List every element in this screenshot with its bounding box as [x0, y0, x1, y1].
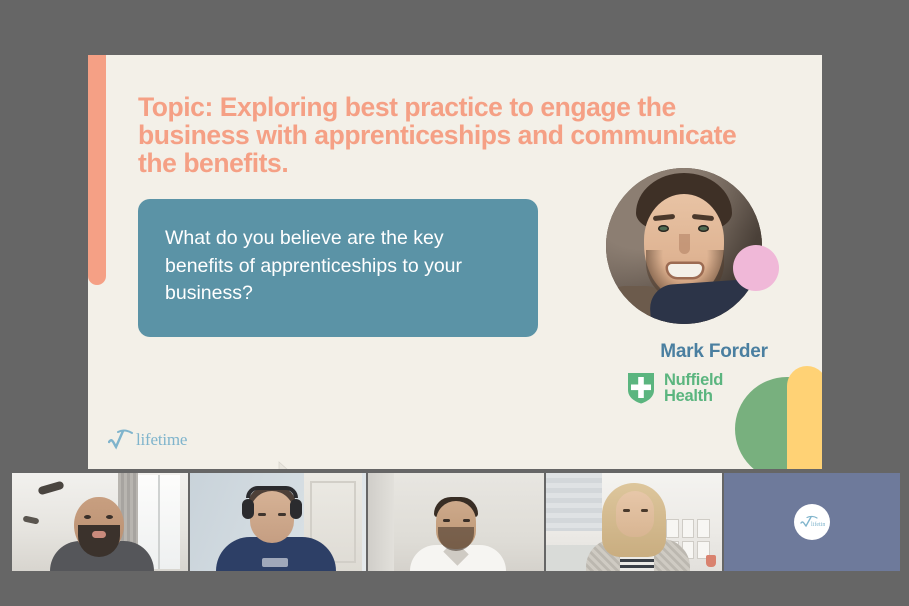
meeting-screen-share-view: Topic: Exploring best practice to engage… — [0, 0, 909, 606]
tile-2-shirt-logo — [262, 558, 288, 567]
tile-4-person-eye-right — [641, 509, 648, 512]
tile-2-headset-cup-right — [290, 499, 302, 519]
participant-tile-1[interactable] — [12, 473, 188, 571]
tile-1-person-eye-left — [84, 515, 91, 519]
pink-circle-decoration — [733, 245, 779, 291]
slide-title: Topic: Exploring best practice to engage… — [138, 93, 758, 177]
photo-eye-left — [658, 225, 669, 232]
question-text: What do you believe are the key benefits… — [165, 225, 513, 308]
nuffield-health-logo: Nuffield Health — [626, 368, 751, 408]
avatar: lifetime — [794, 504, 830, 540]
shield-cross-icon — [626, 371, 656, 405]
lifetime-swoosh-icon — [108, 429, 134, 451]
yellow-rounded-rect-decoration — [787, 366, 822, 469]
lifetime-wordmark: lifetime — [136, 430, 187, 450]
tile-2-headset-band — [246, 486, 298, 498]
participant-filmstrip[interactable]: lifetime — [12, 473, 898, 571]
participant-tile-3[interactable] — [368, 473, 544, 571]
nuffield-wordmark: Nuffield Health — [664, 372, 723, 405]
speaker-headshot — [606, 168, 762, 324]
photo-smile — [668, 264, 702, 277]
speaker-name: Mark Forder — [614, 341, 814, 363]
tile-4-window-blind — [546, 473, 602, 531]
tile-4-mug — [706, 555, 716, 567]
nuffield-line-1: Nuffield — [664, 372, 723, 389]
photo-nose — [679, 234, 690, 254]
tile-2-person-eye-right — [278, 513, 286, 516]
tile-3-person-eye-left — [443, 519, 450, 522]
tile-2-person-eye-left — [258, 513, 266, 516]
question-callout-box: What do you believe are the key benefits… — [138, 199, 538, 337]
lifetime-swoosh-icon: lifetime — [799, 515, 825, 529]
tile-3-wall-edge — [368, 473, 394, 571]
tile-4-person-head — [616, 491, 654, 537]
tile-2-person-head — [250, 491, 294, 543]
lifetime-logo: lifetime — [108, 427, 218, 453]
tile-4-person-eye-left — [623, 509, 630, 512]
participant-tile-2[interactable] — [190, 473, 366, 571]
participant-tile-4[interactable] — [546, 473, 722, 571]
shared-slide[interactable]: Topic: Exploring best practice to engage… — [88, 55, 822, 469]
photo-eye-right — [698, 225, 709, 232]
participant-tile-5[interactable]: lifetime — [724, 473, 900, 571]
accent-bar — [88, 55, 106, 285]
tile-1-person-eye-right — [106, 515, 113, 519]
tile-2-headset-cup-left — [242, 499, 254, 519]
nuffield-line-2: Health — [664, 388, 723, 405]
mouse-pointer-icon — [278, 461, 290, 469]
tile-1-person-mouth — [92, 531, 106, 538]
tile-3-person-eye-right — [463, 519, 470, 522]
svg-text:lifetime: lifetime — [811, 521, 825, 528]
